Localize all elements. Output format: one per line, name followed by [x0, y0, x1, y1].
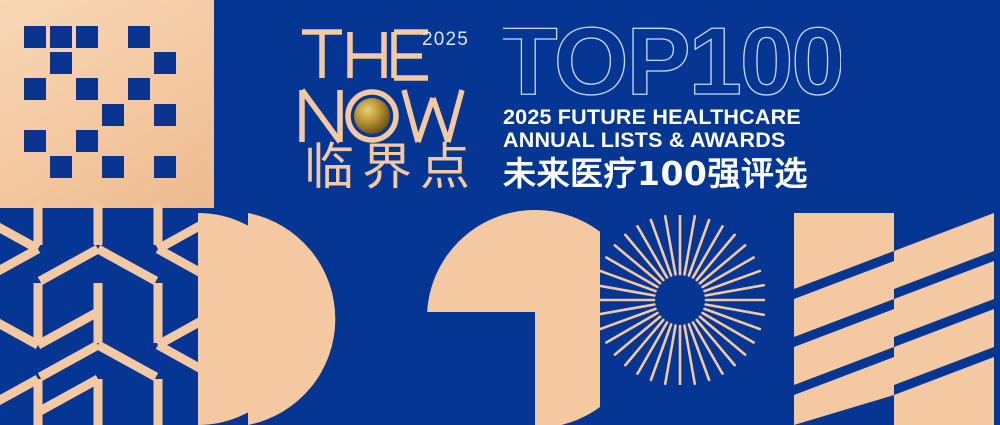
gold-orb	[354, 98, 390, 134]
logo-year-text: 2025	[422, 29, 469, 50]
headline-english-line1: 2025 FUTURE HEALTHCARE	[503, 106, 843, 129]
checker-cell	[24, 78, 46, 100]
checker-cell	[154, 156, 176, 178]
checker-cell	[24, 130, 46, 152]
headline-chinese: 未来医疗100强评选	[503, 155, 843, 193]
checker-cell	[50, 52, 72, 74]
half-circle-mid	[248, 213, 335, 425]
checker-cell	[50, 156, 72, 178]
headline-block: TOP100 2025 FUTURE HEALTHCARE ANNUAL LIS…	[503, 22, 843, 192]
promo-banner: 2025 临界点 TOP100 2025 FUTURE HEALTHCARE A…	[0, 0, 1000, 425]
checker-decoration-block	[0, 0, 214, 208]
checker-cell	[24, 26, 46, 48]
checker-cell	[128, 78, 150, 100]
checker-cell	[76, 26, 98, 48]
checker-cell	[102, 104, 124, 126]
logo-chinese-text: 临界点	[294, 140, 488, 194]
checker-cell	[154, 52, 176, 74]
sunburst-rays	[595, 215, 765, 385]
the-now-logo: 2025 临界点	[296, 20, 486, 195]
top100-text: TOP100	[503, 22, 841, 102]
headline-english-line2: ANNUAL LISTS & AWARDS	[503, 129, 843, 152]
checker-cell	[102, 156, 124, 178]
checker-cell	[76, 78, 98, 100]
circle-shape-cluster	[180, 205, 600, 425]
checker-cell	[128, 26, 150, 48]
checker-cell	[50, 26, 72, 48]
top100-outline-text: TOP100	[503, 22, 841, 102]
diagonal-stripes-pattern	[788, 203, 1000, 425]
checker-cell	[76, 130, 98, 152]
checker-cell	[154, 104, 176, 126]
